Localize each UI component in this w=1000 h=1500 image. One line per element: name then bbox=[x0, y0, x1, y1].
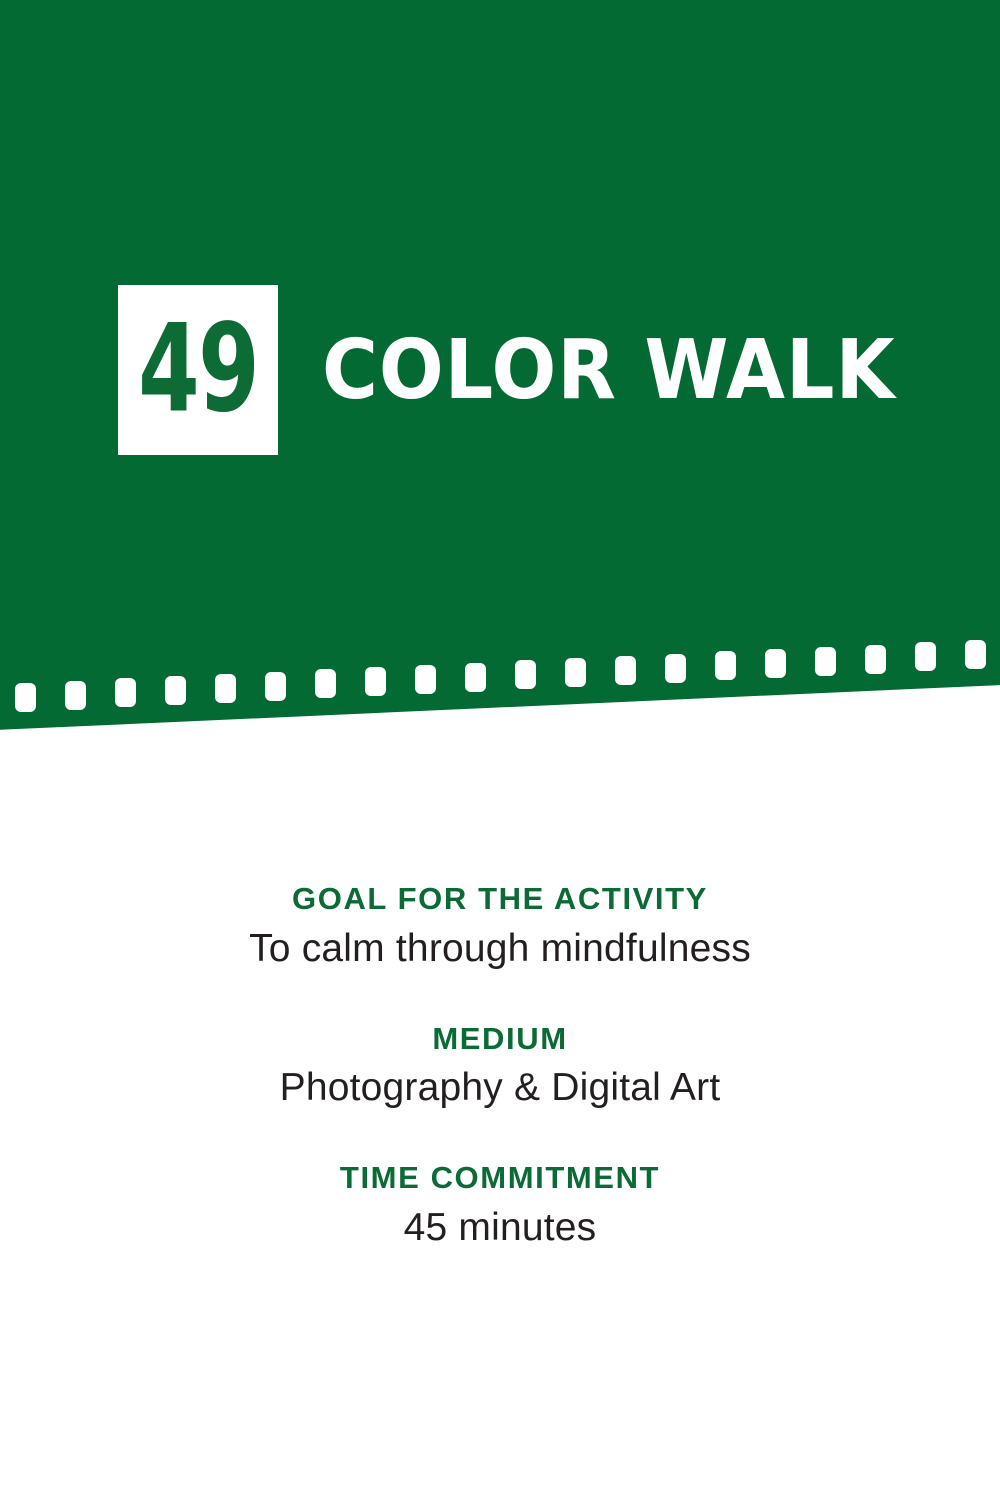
activity-number-badge: 49 bbox=[118, 285, 278, 455]
detail-value: 45 minutes bbox=[0, 1204, 1000, 1253]
detail-group: GOAL FOR THE ACTIVITYTo calm through min… bbox=[0, 880, 1000, 974]
page-title: COLOR WALK bbox=[322, 310, 895, 430]
filmstrip-header: 49 COLOR WALK bbox=[0, 0, 1000, 760]
detail-label: GOAL FOR THE ACTIVITY bbox=[0, 880, 1000, 919]
detail-value: To calm through mindfulness bbox=[0, 925, 1000, 974]
activity-card: 49 COLOR WALK GOAL FOR THE ACTIVITYTo ca… bbox=[0, 0, 1000, 1500]
detail-group: TIME COMMITMENT45 minutes bbox=[0, 1159, 1000, 1253]
detail-label: MEDIUM bbox=[0, 1020, 1000, 1059]
detail-group: MEDIUMPhotography & Digital Art bbox=[0, 1020, 1000, 1114]
activity-number: 49 bbox=[138, 310, 258, 431]
activity-details: GOAL FOR THE ACTIVITYTo calm through min… bbox=[0, 880, 1000, 1253]
detail-value: Photography & Digital Art bbox=[0, 1064, 1000, 1113]
detail-label: TIME COMMITMENT bbox=[0, 1159, 1000, 1198]
